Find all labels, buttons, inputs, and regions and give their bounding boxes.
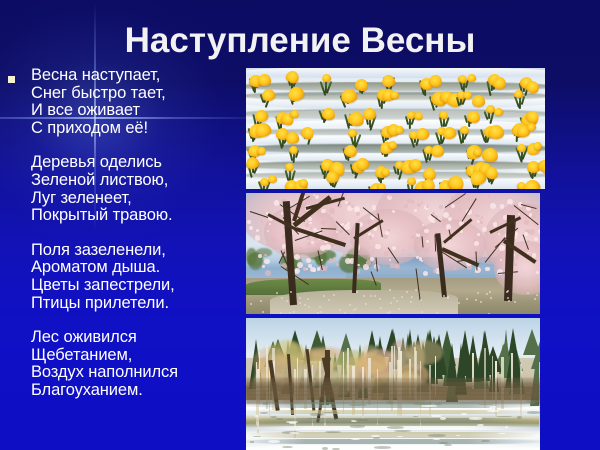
poem-line: Щебетанием, [31, 347, 243, 365]
poem-line: И все оживает [31, 102, 243, 120]
page-title: Наступление Весны [0, 20, 600, 62]
birch-forest-melting-ice-photo [246, 318, 540, 450]
poem-line: Ароматом дыша. [31, 259, 243, 277]
poem-line: С приходом её! [31, 120, 243, 138]
poem-line: Снег быстро тает, [31, 85, 243, 103]
poem-line: Благоуханием. [31, 382, 243, 400]
poem-text-block: Весна наступает, Снег быстро тает, И все… [7, 67, 243, 400]
poem-line: Луг зеленеет, [31, 190, 243, 208]
cherry-blossom-lake-photo [246, 193, 540, 314]
bulleted-content: Весна наступает, Снег быстро тает, И все… [7, 67, 243, 400]
poem-line: Птицы прилетели. [31, 295, 243, 313]
poem-line: Деревья оделись [31, 154, 243, 172]
poem-line: Воздух наполнился [31, 364, 243, 382]
poem-stanza: Весна наступает, Снег быстро тает, И все… [31, 67, 243, 137]
yellow-crocuses-in-snow-photo [246, 68, 545, 189]
poem-line: Покрытый травою. [31, 207, 243, 225]
poem-line: Цветы запестрели, [31, 277, 243, 295]
poem-line: Поля зазеленели, [31, 242, 243, 260]
poem-stanza: Деревья оделись Зеленой листвою, Луг зел… [31, 154, 243, 224]
poem-stanza: Поля зазеленели, Ароматом дыша. Цветы за… [31, 242, 243, 312]
poem-line: Лес оживился [31, 329, 243, 347]
poem-line: Зеленой листвою, [31, 172, 243, 190]
poem-line: Весна наступает, [31, 67, 243, 85]
poem-stanza: Лес оживился Щебетанием, Воздух наполнил… [31, 329, 243, 399]
square-bullet-icon [8, 76, 15, 83]
presentation-slide: Наступление Весны Весна наступает, Снег … [0, 0, 600, 450]
